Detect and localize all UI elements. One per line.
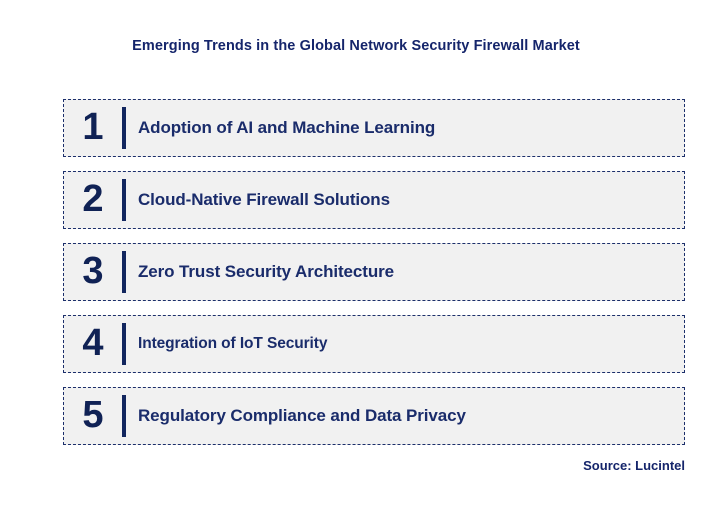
source-attribution: Source: Lucintel: [583, 458, 685, 473]
vertical-divider-icon: [122, 179, 126, 221]
page-title: Emerging Trends in the Global Network Se…: [0, 38, 712, 54]
trend-label: Integration of IoT Security: [138, 335, 684, 353]
trend-label: Adoption of AI and Machine Learning: [138, 118, 684, 138]
trend-number: 4: [64, 324, 122, 365]
vertical-divider-icon: [122, 107, 126, 149]
trend-number: 1: [64, 108, 122, 149]
trend-item-3[interactable]: 3 Zero Trust Security Architecture: [63, 243, 685, 301]
trend-item-4[interactable]: 4 Integration of IoT Security: [63, 315, 685, 373]
trend-item-2[interactable]: 2 Cloud-Native Firewall Solutions: [63, 171, 685, 229]
vertical-divider-icon: [122, 251, 126, 293]
trend-item-1[interactable]: 1 Adoption of AI and Machine Learning: [63, 99, 685, 157]
vertical-divider-icon: [122, 395, 126, 437]
infographic-canvas: Emerging Trends in the Global Network Se…: [0, 0, 712, 521]
trend-list: 1 Adoption of AI and Machine Learning 2 …: [63, 99, 685, 445]
trend-number: 2: [64, 180, 122, 221]
trend-label: Cloud-Native Firewall Solutions: [138, 190, 684, 210]
trend-item-5[interactable]: 5 Regulatory Compliance and Data Privacy: [63, 387, 685, 445]
trend-number: 5: [64, 396, 122, 437]
trend-label: Zero Trust Security Architecture: [138, 262, 684, 282]
trend-label: Regulatory Compliance and Data Privacy: [138, 406, 684, 426]
vertical-divider-icon: [122, 323, 126, 365]
trend-number: 3: [64, 252, 122, 293]
